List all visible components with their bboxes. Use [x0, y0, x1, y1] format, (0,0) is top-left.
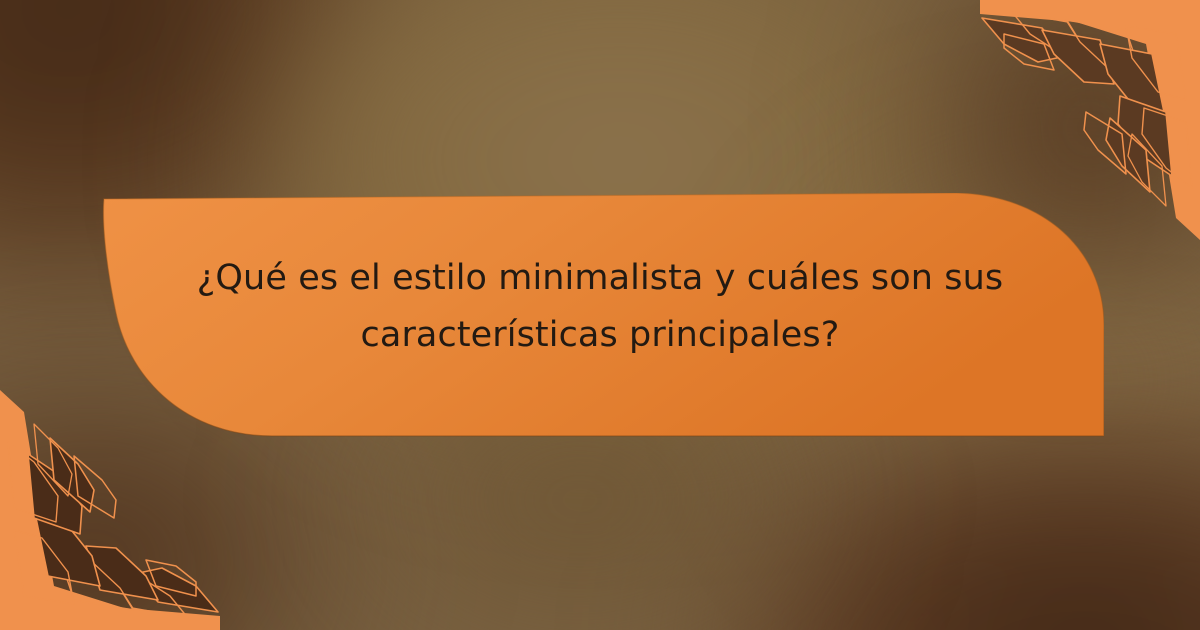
- question-card: ¿Qué es el estilo minimalista y cuáles s…: [0, 0, 1200, 630]
- question-text: ¿Qué es el estilo minimalista y cuáles s…: [150, 250, 1050, 363]
